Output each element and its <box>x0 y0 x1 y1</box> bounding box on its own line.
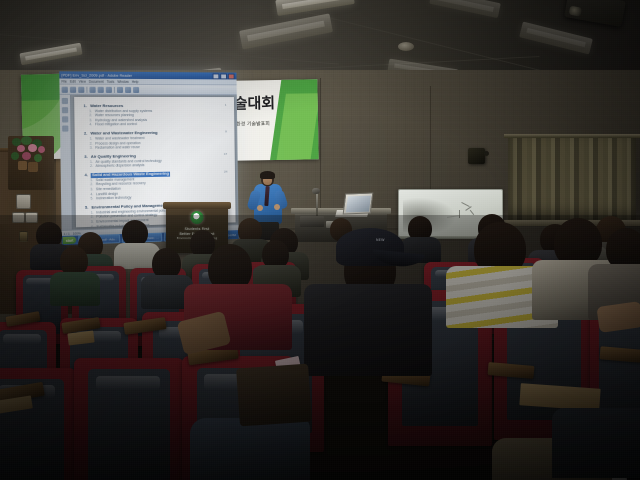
subitem-number: 5. <box>90 197 93 202</box>
black-jacket <box>304 284 432 376</box>
section-number: 4. <box>84 173 88 178</box>
presenter-right-hand <box>274 204 280 210</box>
subitem-text: Atmospheric dispersion analysis <box>96 163 145 168</box>
presenter-hair <box>260 171 275 179</box>
laptop-screen <box>345 195 370 212</box>
subitem-text: Flood mitigation and control <box>95 122 137 127</box>
navigation-pane <box>60 95 73 230</box>
audience-area: NEW <box>0 218 640 480</box>
subitem-number: 4. <box>89 123 92 128</box>
section-number: 1. <box>84 104 88 109</box>
close-icon[interactable] <box>228 73 235 79</box>
find-icon[interactable] <box>133 86 139 92</box>
subitem-number: 3. <box>90 146 93 151</box>
menu-window[interactable]: Window <box>117 79 128 83</box>
banner-right: 술대회 환경 기술발표회 <box>231 79 318 160</box>
section-subitem: 4.Flood mitigation and control <box>84 122 227 127</box>
email-icon[interactable] <box>78 86 84 92</box>
subitem-number: 2. <box>90 164 93 169</box>
blue-jeans <box>190 418 310 480</box>
microphone-stand <box>316 192 318 216</box>
dark-jeans <box>552 408 640 478</box>
seat[interactable] <box>74 358 184 480</box>
wall-speaker-icon <box>468 148 485 164</box>
banner-right-title: 술대회 <box>234 92 276 114</box>
menu-edit[interactable]: Edit <box>70 79 76 83</box>
ceiling-projector <box>564 0 626 27</box>
document-section: 3.Air Quality Engineering171.Air quality… <box>84 153 227 169</box>
section-page-number: 17 <box>224 153 227 156</box>
menu-document[interactable]: Document <box>89 79 104 83</box>
document-section: 2.Water and Wastewater Engineering91.Wat… <box>84 131 227 151</box>
microphone-icon <box>312 188 320 194</box>
fit-page-icon[interactable] <box>117 86 123 92</box>
comments-icon[interactable] <box>62 125 68 131</box>
document-section: 4.Solid and Hazardous Waste Engineering2… <box>84 171 227 202</box>
subitem-text: Incineration technology <box>96 196 131 201</box>
pages-icon[interactable] <box>62 107 68 113</box>
open-icon[interactable] <box>62 86 68 92</box>
bookmarks-icon[interactable] <box>62 98 68 104</box>
projector-lens-icon <box>569 6 582 17</box>
toolbar-divider <box>114 86 115 92</box>
lecture-hall-photo: 2 일시 술대회 환경 기술발표회 [PDF] Env_Sci_2009.pdf… <box>0 0 640 480</box>
podium-top <box>163 202 231 209</box>
subitem-text: Reclamation and water reuse <box>95 145 140 150</box>
section-subitem: 3.Reclamation and water reuse <box>84 144 227 150</box>
cap-logo-text: NEW <box>376 238 385 242</box>
laptop[interactable] <box>343 193 374 215</box>
ceiling-light-3 <box>19 43 82 66</box>
ceiling-light-5 <box>429 0 501 18</box>
zoom-in-icon[interactable] <box>106 86 112 92</box>
ceiling-light-2 <box>239 13 333 49</box>
minimize-icon[interactable] <box>213 73 220 79</box>
window-title: [PDF] Env_Sci_2009.pdf - Adobe Reader <box>61 73 210 78</box>
presenter-left-hand <box>257 205 263 211</box>
smoke-detector-1 <box>398 42 414 51</box>
menu-help[interactable]: Help <box>132 79 139 83</box>
menu-tools[interactable]: Tools <box>107 79 115 83</box>
section-number: 3. <box>84 155 88 160</box>
print-icon[interactable] <box>70 86 76 92</box>
banner-right-subtext: 환경 기술발표회 <box>236 120 270 128</box>
flower-arrangement <box>8 136 54 190</box>
select-tool-icon[interactable] <box>89 86 95 92</box>
shoulder-bag[interactable] <box>236 364 312 427</box>
maximize-icon[interactable] <box>220 73 227 79</box>
section-number: 2. <box>84 132 88 137</box>
light-switch-panel-1[interactable] <box>16 194 31 209</box>
section-page-number: 9 <box>225 131 227 134</box>
attachments-icon[interactable] <box>62 116 68 122</box>
section-number: 5. <box>85 206 89 211</box>
menu-view[interactable]: View <box>79 79 86 83</box>
ceiling-light-6 <box>519 22 593 55</box>
menu-file[interactable]: File <box>61 79 66 83</box>
toolbar <box>59 85 236 95</box>
document-section: 1.Water Resources11.Water distribution a… <box>84 104 227 127</box>
toolbar-divider <box>86 86 87 92</box>
zoom-out-icon[interactable] <box>98 86 104 92</box>
section-page-number: 1 <box>225 104 227 107</box>
window-curtain[interactable] <box>508 138 636 222</box>
section-page-number: 24 <box>224 171 227 174</box>
rotate-icon[interactable] <box>125 86 131 92</box>
